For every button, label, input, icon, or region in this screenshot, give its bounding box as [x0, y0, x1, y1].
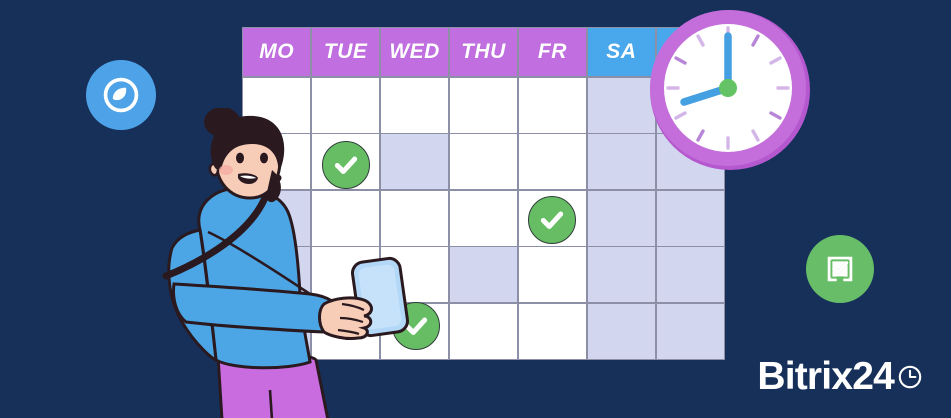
calendar-cell[interactable] — [588, 78, 655, 133]
checkbox-icon — [822, 251, 858, 287]
calendar-cell[interactable] — [450, 247, 517, 302]
calendar-cell[interactable] — [450, 78, 517, 133]
calendar-cell[interactable] — [588, 134, 655, 189]
wall-clock — [648, 8, 812, 172]
logo-text: Bitrix24 — [757, 357, 894, 396]
banner-canvas: MO TUE WED THU FR SA SU — [0, 0, 951, 418]
check-badge-fri[interactable] — [528, 196, 576, 244]
calendar-header-tue: TUE — [312, 28, 379, 76]
calendar-cell[interactable] — [657, 304, 724, 359]
leaf-icon — [101, 75, 141, 115]
calendar-cell[interactable] — [450, 304, 517, 359]
clock-center — [719, 79, 737, 97]
leaf-circle-icon — [86, 60, 156, 130]
woman-with-phone-illustration — [160, 108, 430, 418]
cheek-blush — [219, 165, 233, 175]
calendar-cell[interactable] — [519, 247, 586, 302]
calendar-cell[interactable] — [657, 191, 724, 246]
clock-icon — [897, 364, 923, 390]
calendar-cell[interactable] — [519, 134, 586, 189]
calendar-cell[interactable] — [519, 78, 586, 133]
sweater-arm — [174, 284, 343, 332]
check-icon — [539, 207, 565, 233]
calendar-cell[interactable] — [519, 304, 586, 359]
eye-left — [236, 153, 244, 164]
calendar-header-sa: SA — [588, 28, 655, 76]
calendar-cell[interactable] — [450, 191, 517, 246]
calendar-header-thu: THU — [450, 28, 517, 76]
calendar-header-wed: WED — [381, 28, 448, 76]
calendar-cell[interactable] — [588, 191, 655, 246]
eye-right — [260, 153, 268, 164]
task-checkbox-icon — [806, 235, 874, 303]
bitrix24-logo[interactable]: Bitrix24 — [757, 357, 923, 396]
calendar-cell[interactable] — [657, 247, 724, 302]
hair-bun — [204, 108, 240, 137]
calendar-header-fr: FR — [519, 28, 586, 76]
calendar-cell[interactable] — [588, 247, 655, 302]
calendar-cell[interactable] — [588, 304, 655, 359]
calendar-cell[interactable] — [450, 134, 517, 189]
calendar-header-mo: MO — [243, 28, 310, 76]
